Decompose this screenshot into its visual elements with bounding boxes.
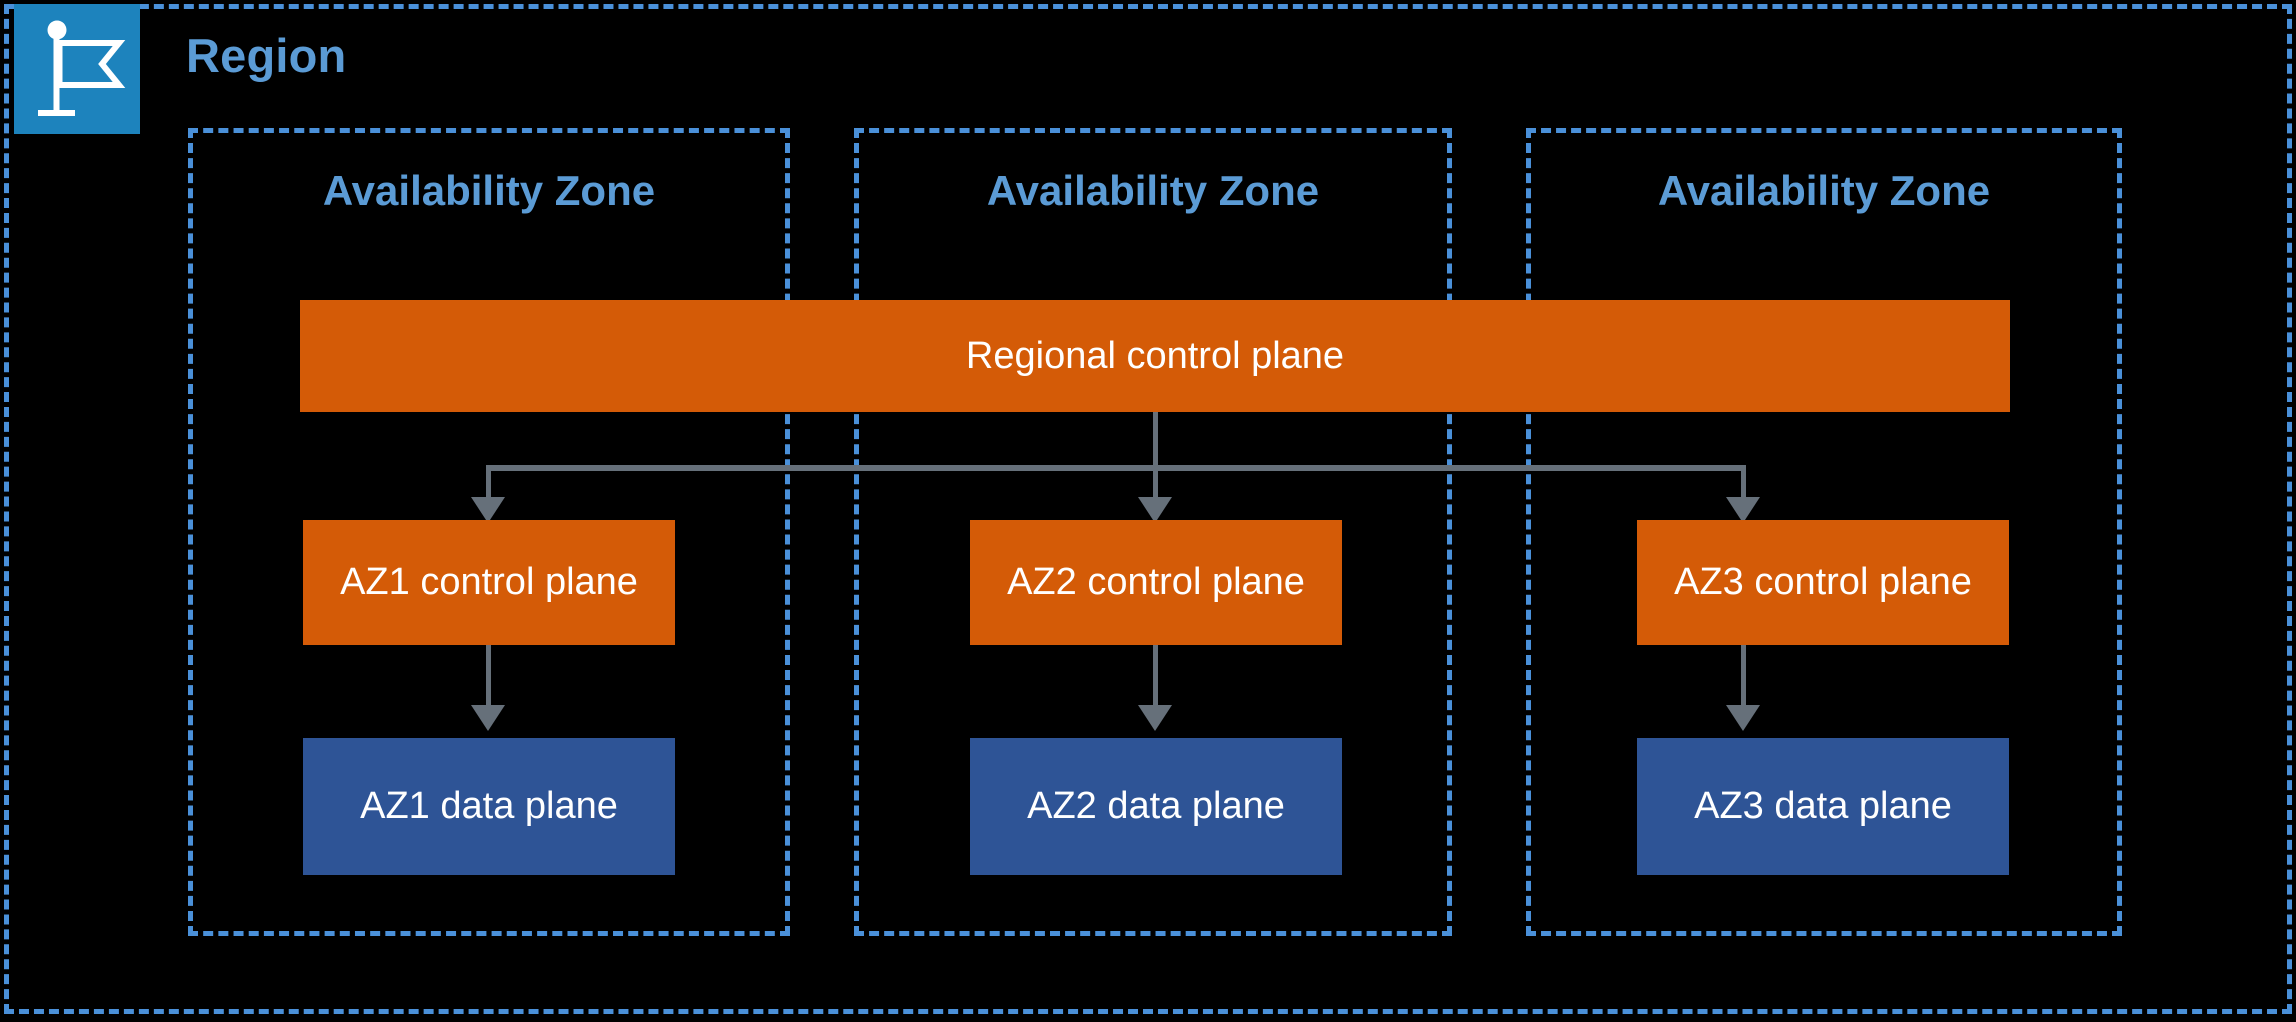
diagram-canvas: Region Availability Zone Availability Zo…: [0, 0, 2296, 1022]
availability-zone-2-title: Availability Zone: [859, 167, 1447, 215]
connector-az2-control-to-data: [1153, 645, 1158, 707]
connector-az3-control-to-data: [1741, 645, 1746, 707]
az3-control-plane-box: AZ3 control plane: [1637, 520, 2009, 645]
regional-control-plane-box: Regional control plane: [300, 300, 2010, 412]
region-flag-icon: [14, 4, 140, 134]
region-title: Region: [186, 28, 346, 83]
az1-control-plane-label: AZ1 control plane: [340, 561, 638, 604]
connector-regional-stem: [1153, 412, 1158, 468]
arrowhead-az3-data: [1726, 705, 1760, 731]
availability-zone-1-title: Availability Zone: [193, 167, 785, 215]
connector-horizontal-bus: [488, 465, 1746, 471]
az2-data-plane-label: AZ2 data plane: [1027, 785, 1285, 828]
arrowhead-az1-data: [471, 705, 505, 731]
regional-control-plane-label: Regional control plane: [966, 335, 1344, 378]
az1-data-plane-label: AZ1 data plane: [360, 785, 618, 828]
arrowhead-az2-data: [1138, 705, 1172, 731]
availability-zone-3-title: Availability Zone: [1531, 167, 2117, 215]
az3-data-plane-box: AZ3 data plane: [1637, 738, 2009, 875]
az2-control-plane-label: AZ2 control plane: [1007, 561, 1305, 604]
az1-data-plane-box: AZ1 data plane: [303, 738, 675, 875]
az1-control-plane-box: AZ1 control plane: [303, 520, 675, 645]
az2-control-plane-box: AZ2 control plane: [970, 520, 1342, 645]
az3-control-plane-label: AZ3 control plane: [1674, 561, 1972, 604]
az2-data-plane-box: AZ2 data plane: [970, 738, 1342, 875]
connector-az1-control-to-data: [486, 645, 491, 707]
az3-data-plane-label: AZ3 data plane: [1694, 785, 1952, 828]
